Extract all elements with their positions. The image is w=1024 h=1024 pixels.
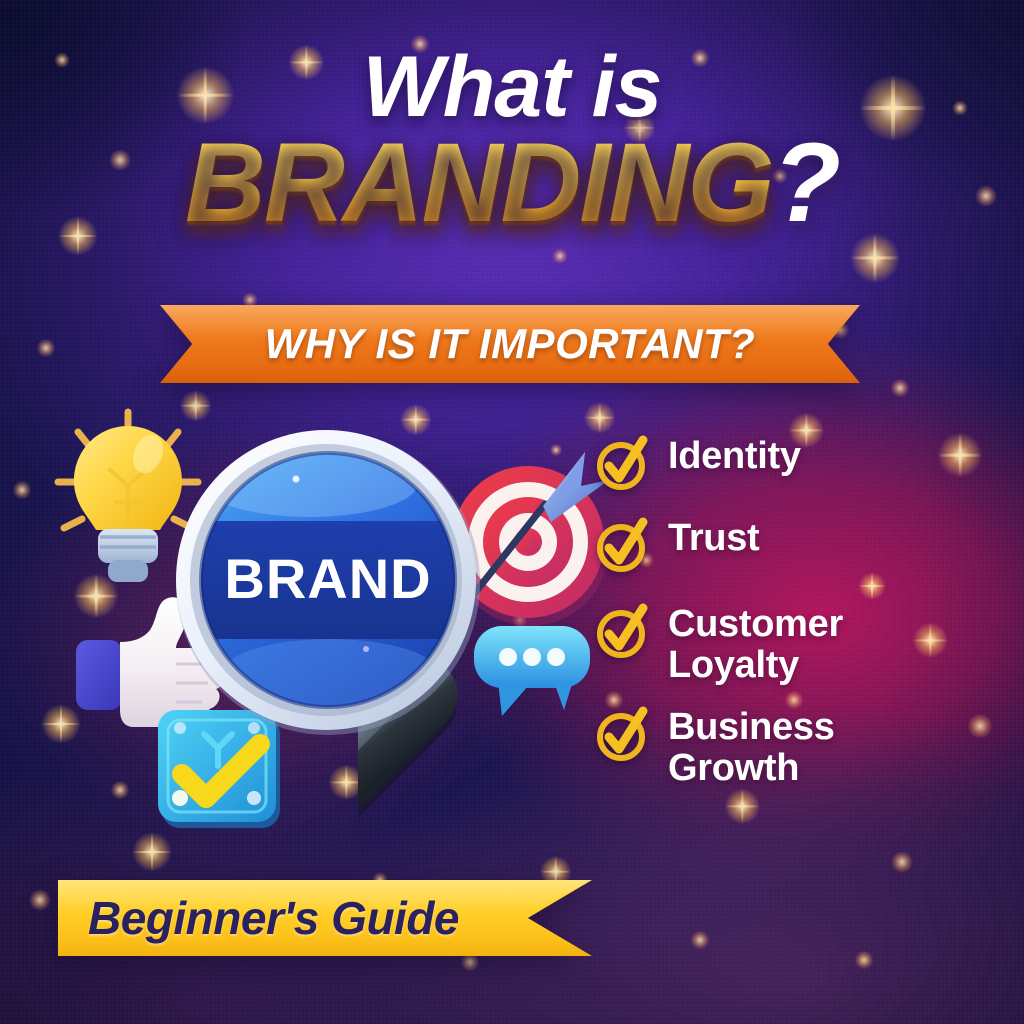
list-item-label: Trust bbox=[668, 518, 759, 559]
list-item-label: Identity bbox=[668, 436, 801, 477]
list-item: Customer Loyalty bbox=[596, 604, 1016, 685]
check-circle-icon bbox=[596, 709, 650, 763]
benefits-checklist: Identity Trust Customer Loyalty bbox=[596, 436, 1016, 789]
footer-ribbon: Beginner's Guide bbox=[58, 880, 592, 956]
list-item: Business Growth bbox=[596, 707, 1016, 788]
list-item-label: Customer Loyalty bbox=[668, 604, 918, 685]
footer-ribbon-label: Beginner's Guide bbox=[58, 880, 592, 956]
title-line-branding: BRANDING? bbox=[0, 126, 1024, 240]
list-item: Identity bbox=[596, 436, 1016, 492]
title-branding-word: BRANDING bbox=[185, 120, 773, 245]
list-item-label: Business Growth bbox=[668, 707, 898, 788]
check-circle-icon bbox=[596, 606, 650, 660]
list-item: Trust bbox=[596, 518, 1016, 574]
subtitle-ribbon: WHY IS IT IMPORTANT? bbox=[160, 305, 860, 383]
branding-infographic-poster: What is BRANDING? WHY IS IT IMPORTANT? bbox=[0, 0, 1024, 1024]
subtitle-ribbon-label: WHY IS IT IMPORTANT? bbox=[160, 305, 860, 383]
magnifier-lens-label: BRAND bbox=[224, 547, 431, 610]
illustration-cluster: BRAND bbox=[20, 400, 600, 860]
title-line-what-is: What is bbox=[0, 44, 1024, 132]
check-circle-icon bbox=[596, 520, 650, 574]
magnifier-lens: BRAND bbox=[170, 425, 486, 741]
check-circle-icon bbox=[596, 438, 650, 492]
title-question-mark: ? bbox=[773, 120, 839, 245]
page-title: What is BRANDING? bbox=[0, 44, 1024, 240]
